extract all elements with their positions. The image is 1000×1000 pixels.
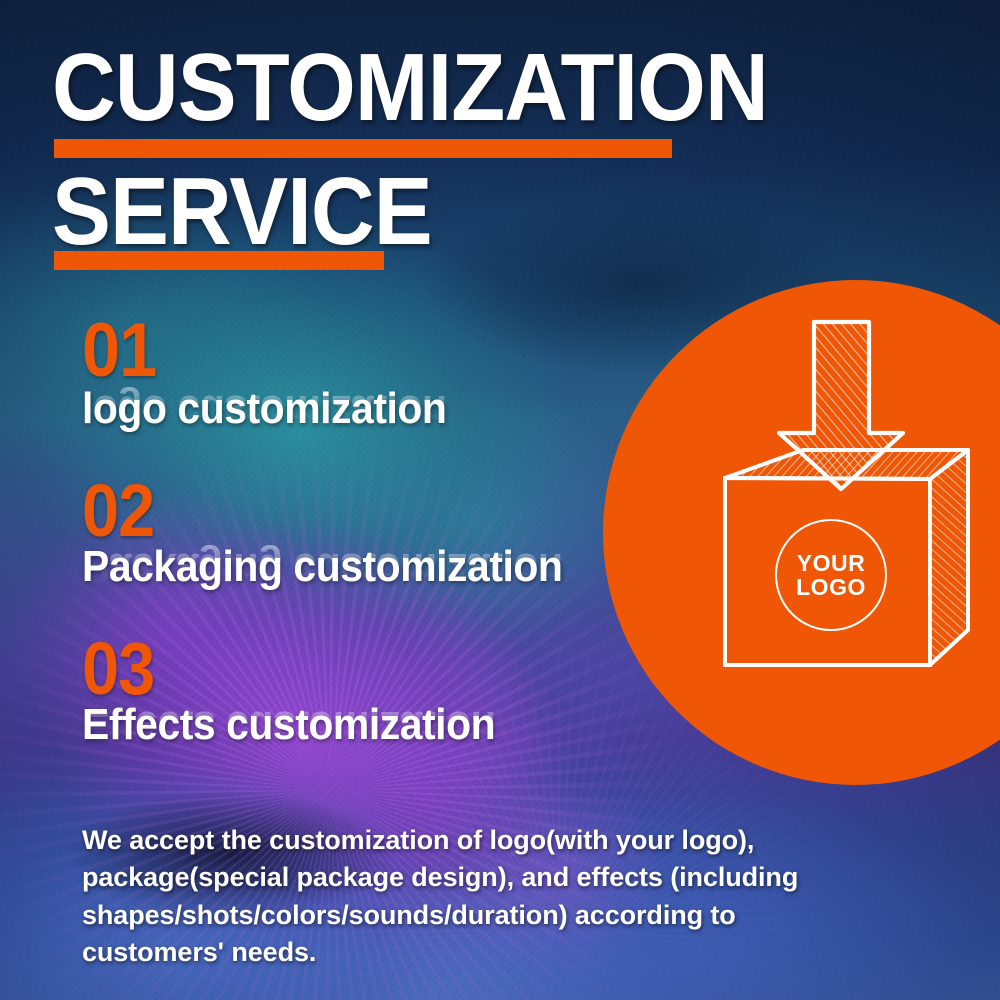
service-label: Effects customization <box>82 703 603 748</box>
your-logo-badge: YOUR LOGO <box>775 519 887 631</box>
list-item: 03 Effects customization Effects customi… <box>82 636 642 748</box>
service-number: 02 <box>82 478 586 543</box>
service-number: 03 <box>82 636 586 701</box>
service-label: logo customization <box>82 387 603 432</box>
list-item: 02 Packaging customization Packaging cus… <box>82 478 642 590</box>
page-title: CUSTOMIZATION SERVICE <box>52 42 752 278</box>
your-logo-line-1: YOUR <box>797 551 865 575</box>
list-item: 01 logo customization logo customization <box>82 318 642 432</box>
service-label-wrap: Packaging customization Packaging custom… <box>82 545 642 590</box>
headline-line-2: SERVICE <box>52 166 696 257</box>
service-label-wrap: Effects customization Effects customizat… <box>82 703 642 748</box>
service-label-wrap: logo customization logo customization <box>82 387 642 432</box>
headline-underline-1 <box>54 139 672 158</box>
body-paragraph: We accept the customization of logo(with… <box>82 822 852 971</box>
headline-line-1: CUSTOMIZATION <box>52 42 696 133</box>
service-number: 01 <box>82 318 586 385</box>
service-label: Packaging customization <box>82 545 603 590</box>
your-logo-line-2: LOGO <box>796 575 866 599</box>
service-list: 01 logo customization logo customization… <box>82 318 642 770</box>
customization-service-poster: CUSTOMIZATION SERVICE 01 logo customizat… <box>0 0 1000 1000</box>
